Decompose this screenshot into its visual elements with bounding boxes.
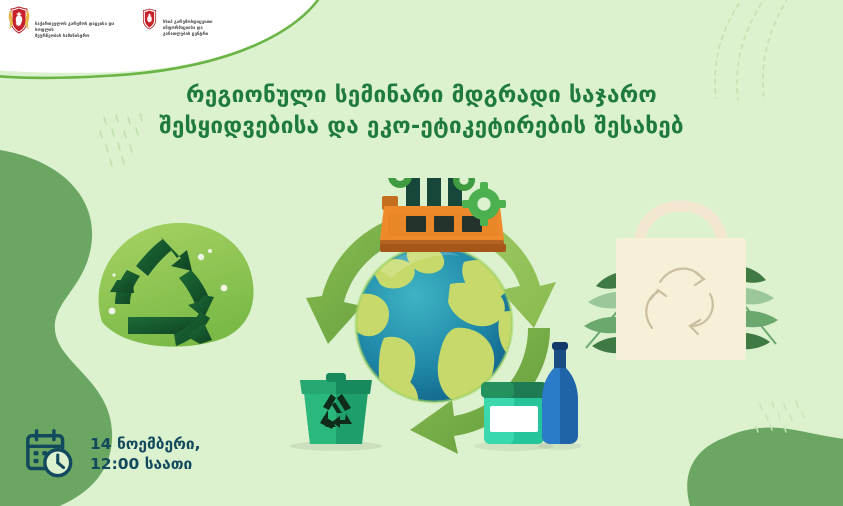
page-title-line-2: შესყიდვებისა და ეკო-ეტიკეტირების შესახებ (90, 111, 753, 142)
logo-row: საქართველოს გარემოს დაცვისა და სოფლის მე… (0, 0, 213, 38)
page-title: რეგიონული სემინარი მდგრადი საჯარო შესყიდ… (0, 80, 843, 142)
calendar-clock-icon (24, 428, 78, 482)
logo-center-line-3: განათლების ცენტრი (163, 31, 213, 37)
georgia-coat-of-arms-icon (8, 6, 30, 34)
logo-info-center: სსიპ გარემოსდაცვითი ინფორმაციისა და განა… (141, 6, 213, 36)
logo-info-center-text: სსიპ გარემოსდაცვითი ინფორმაციისა და განა… (163, 6, 213, 36)
logo-ministry: საქართველოს გარემოს დაცვისა და სოფლის მე… (8, 6, 127, 38)
logo-ministry-line-2: მეურნეობის სამინისტრო (35, 33, 127, 39)
event-date-text: 14 ნოემბერი, 12:00 საათი (90, 435, 201, 475)
page-title-line-1: რეგიონული სემინარი მდგრადი საჯარო (90, 80, 753, 111)
logo-ministry-text: საქართველოს გარემოს დაცვისა და სოფლის მე… (35, 6, 127, 38)
event-date-line: 14 ნოემბერი, (90, 435, 201, 455)
recycling-bin-icon (290, 373, 382, 451)
georgia-coat-of-arms-small-icon (141, 8, 158, 30)
event-time-line: 12:00 საათი (90, 455, 201, 475)
factory-icon (380, 178, 506, 252)
logo-center-line-1: სსიპ გარემოსდაცვითი (163, 19, 213, 25)
poster-canvas: საქართველოს გარემოს დაცვისა და სოფლის მე… (0, 0, 843, 506)
event-date-badge: 14 ნოემბერი, 12:00 საათი (24, 428, 201, 482)
eco-tote-bag-illustration (578, 198, 784, 364)
logo-ministry-line-1: საქართველოს გარემოს დაცვისა და სოფლის (35, 21, 127, 33)
circular-economy-illustration (288, 178, 584, 464)
tote-bag-icon (616, 206, 746, 360)
recycling-symbol-illustration (88, 218, 266, 366)
